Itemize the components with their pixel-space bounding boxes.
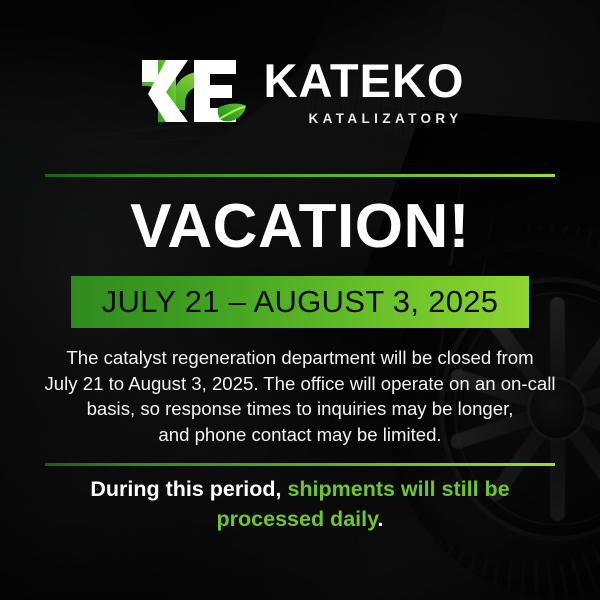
body-line-1: The catalyst regeneration department wil… <box>34 345 566 371</box>
brand-subtitle: KATALIZATORY <box>308 111 462 126</box>
divider-top <box>45 174 555 177</box>
brand-name: KATEKO <box>264 57 465 104</box>
footer-tail-text: . <box>377 507 383 531</box>
body-line-4: and phone contact may be limited. <box>34 422 566 448</box>
headline-vacation: VACATION! <box>0 196 600 258</box>
footer-lead-text: During this period, <box>90 477 287 501</box>
divider-bottom <box>45 463 555 466</box>
body-line-2: July 21 to August 3, 2025. The office wi… <box>34 371 566 397</box>
body-line-3: basis, so response times to inquiries ma… <box>34 396 566 422</box>
brand-logo-lockup: KATEKO KATALIZATORY <box>0 52 600 130</box>
kateko-ke-leaf-logomark <box>136 52 248 130</box>
date-range-banner: JULY 21 – AUGUST 3, 2025 <box>71 276 529 328</box>
brand-wordmark: KATEKO KATALIZATORY <box>264 57 465 126</box>
vacation-announcement-poster: KATEKO KATALIZATORY VACATION! JULY 21 – … <box>0 0 600 600</box>
body-paragraph: The catalyst regeneration department wil… <box>34 345 566 447</box>
date-range-text: JULY 21 – AUGUST 3, 2025 <box>102 284 499 320</box>
footer-note: During this period, shipments will still… <box>60 474 540 534</box>
poster-content: KATEKO KATALIZATORY VACATION! JULY 21 – … <box>0 0 600 600</box>
